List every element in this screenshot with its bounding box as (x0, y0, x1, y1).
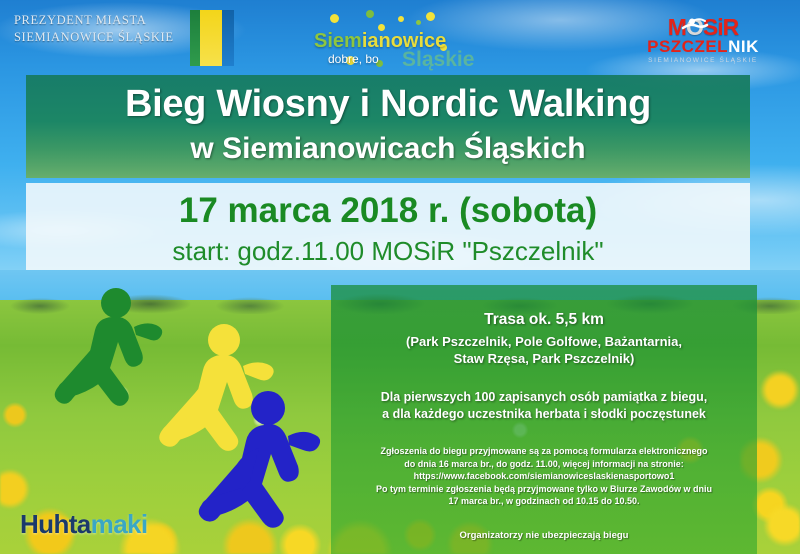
prezydent-miasta-logo: PREZYDENT MIASTA SIEMIANOWICE ŚLĄSKIE (14, 12, 174, 46)
mosir-pszczelnik-logo: MOSiR PSZCZELNIK SIEMIANOWICE ŚLĄSKIE (618, 16, 788, 68)
registration-line-4: Po tym terminie zgłoszenia będą przyjmow… (345, 483, 743, 496)
flag-stripe-yellow (200, 10, 222, 66)
registration-line-1: Zgłoszenia do biegu przyjmowane są za po… (345, 445, 743, 458)
huhtamaki-part-a: Huhta (20, 509, 91, 539)
mosir-city-label: SIEMIANOWICE ŚLĄSKIE (618, 57, 788, 64)
route-line-1: (Park Pszczelnik, Pole Golfowe, Bażantar… (345, 333, 743, 350)
route-line-2: Staw Rzęsa, Park Pszczelnik) (345, 350, 743, 367)
runner-blue-silhouette (190, 390, 345, 554)
siemianowice-tagline: dobre, bo (328, 52, 379, 66)
facility-part-b: NIK (728, 37, 759, 56)
flag-stripe-green (190, 10, 200, 66)
city-flag-icon (190, 10, 240, 66)
registration-line-5: 17 marca br., w godzinach od 10.15 do 10… (345, 495, 743, 508)
flag-stripe-blue (222, 10, 234, 66)
mosir-wordmark: MOSiR (618, 16, 788, 38)
registration-url[interactable]: https://www.facebook.com/siemianowicesla… (345, 470, 743, 483)
prezydent-line-1: PREZYDENT MIASTA (14, 12, 174, 29)
prize-info: Dla pierwszych 100 zapisanych osób pamią… (345, 389, 743, 423)
event-poster: PREZYDENT MIASTA SIEMIANOWICE ŚLĄSKIE Si… (0, 0, 800, 554)
event-date: 17 marca 2018 r. (sobota) (26, 188, 750, 234)
prezydent-line-2: SIEMIANOWICE ŚLĄSKIE (14, 29, 174, 46)
poster-title-line-1: Bieg Wiosny i Nordic Walking (26, 79, 750, 129)
siemianowice-region-label: Śląskie (402, 48, 474, 72)
swimmer-icon (680, 14, 710, 36)
brand-dot (416, 20, 421, 25)
route-title: Trasa ok. 5,5 km (345, 311, 743, 329)
prize-line-1: Dla pierwszych 100 zapisanych osób pamią… (345, 389, 743, 406)
huhtamaki-sponsor-logo: Huhtamaki (20, 509, 148, 540)
brand-dot (426, 12, 435, 21)
siemianowice-brand-logo: Siemianowice dobre, bo Śląskie (306, 8, 486, 68)
poster-title-band: Bieg Wiosny i Nordic Walking w Siemianow… (26, 75, 750, 178)
brand-dot (366, 10, 374, 18)
siemianowice-wordmark-part-a: Siem (314, 30, 362, 52)
insurance-disclaimer: Organizatorzy nie ubezpieczają biegu (345, 530, 743, 541)
event-details-panel: Trasa ok. 5,5 km (Park Pszczelnik, Pole … (331, 285, 757, 554)
mosir-facility-name: PSZCZELNIK (618, 38, 788, 56)
brand-dot (398, 16, 404, 22)
event-start-info: start: godz.11.00 MOSiR "Pszczelnik" (26, 234, 750, 268)
route-description: (Park Pszczelnik, Pole Golfowe, Bażantar… (345, 333, 743, 367)
huhtamaki-part-b: maki (91, 509, 148, 539)
registration-line-2: do dnia 16 marca br., do godz. 11.00, wi… (345, 458, 743, 471)
registration-info: Zgłoszenia do biegu przyjmowane są za po… (345, 445, 743, 508)
brand-dot (330, 14, 339, 23)
prize-line-2: a dla każdego uczestnika herbata i słodk… (345, 406, 743, 423)
facility-part-a: PSZCZEL (647, 37, 728, 56)
poster-title-line-2: w Siemianowicach Śląskich (26, 129, 750, 169)
event-date-band: 17 marca 2018 r. (sobota) start: godz.11… (26, 183, 750, 270)
